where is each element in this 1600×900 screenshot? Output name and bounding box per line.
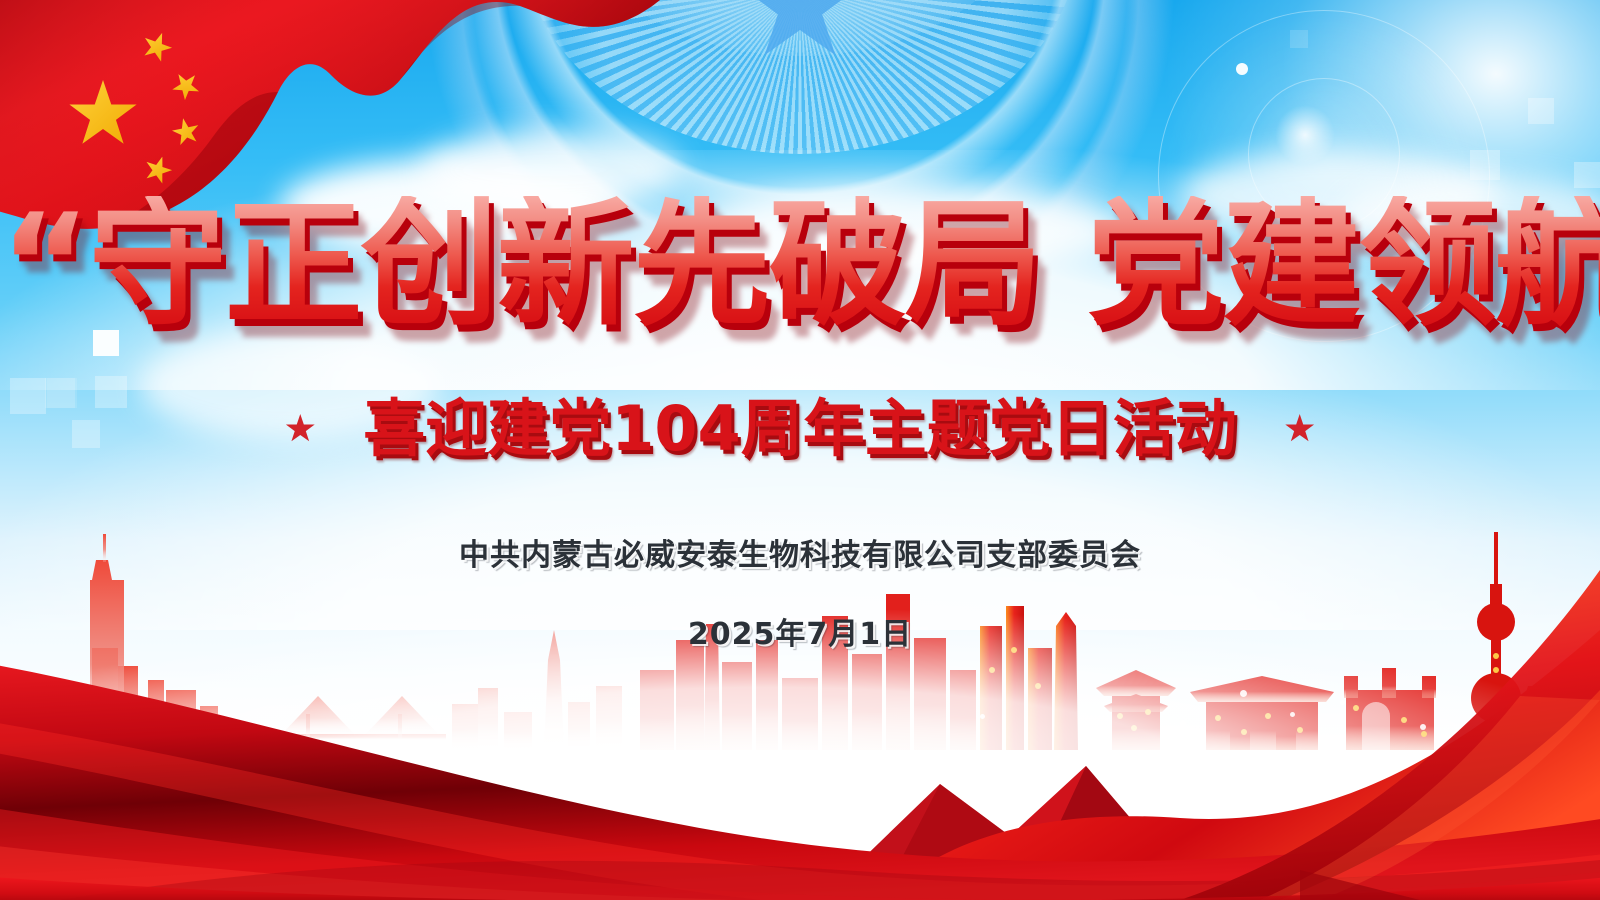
- event-date: 2025年7月1日: [0, 620, 1600, 650]
- poster-text-layer: “守正创新先破局党建领航向阳生” 喜迎建党104周年主题党日活动 中共内蒙古必威…: [0, 0, 1600, 900]
- party-anniversary-poster: “守正创新先破局党建领航向阳生” 喜迎建党104周年主题党日活动 中共内蒙古必威…: [0, 0, 1600, 900]
- subtitle: 喜迎建党104周年主题党日活动: [363, 398, 1236, 460]
- subtitle-row: 喜迎建党104周年主题党日活动: [0, 398, 1600, 460]
- organization-name: 中共内蒙古必威安泰生物科技有限公司支部委员会: [0, 541, 1600, 571]
- red-star-icon-left: [285, 414, 315, 444]
- red-star-icon-right: [1285, 414, 1315, 444]
- page-title: “守正创新先破局党建领航向阳生”: [0, 196, 1600, 334]
- main-title-right: 党建领航向阳生”: [1087, 184, 1600, 345]
- main-title-left: “守正创新先破局: [0, 184, 1041, 345]
